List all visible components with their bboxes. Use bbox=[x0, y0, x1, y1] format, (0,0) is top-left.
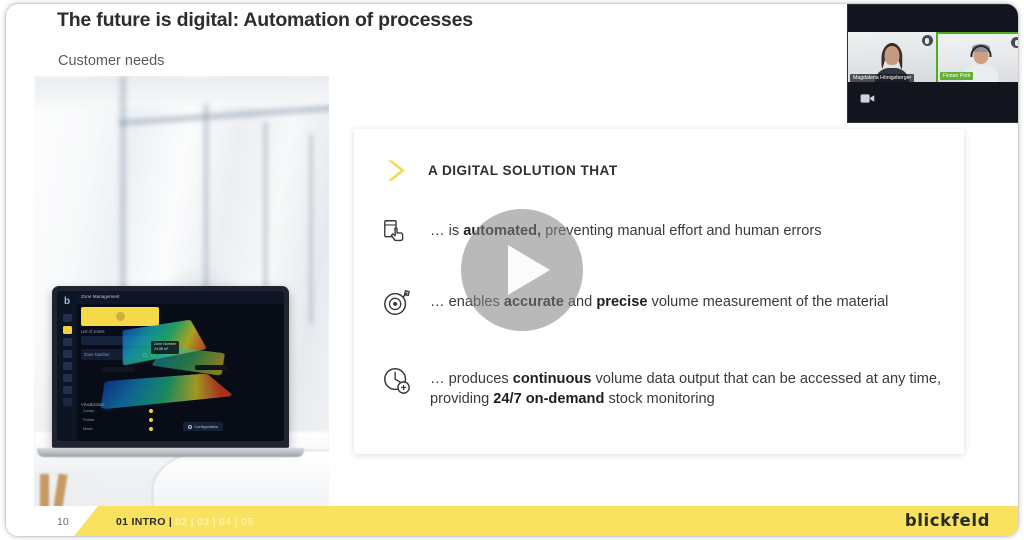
pointcloud-bar bbox=[101, 367, 135, 372]
chair-leg bbox=[40, 474, 49, 508]
video-panel-toolbar bbox=[848, 82, 1018, 122]
play-button-icon[interactable] bbox=[461, 209, 583, 331]
configuration-button-label: Configuration bbox=[194, 424, 218, 429]
tooltip-value: 24.98 m³ bbox=[154, 347, 176, 352]
content-card: A DIGITAL SOLUTION THAT … is automated, … bbox=[354, 129, 964, 454]
sidebar-icon-devices[interactable] bbox=[63, 338, 72, 346]
visualization-row-label: Points bbox=[83, 417, 94, 422]
visualization-row-zones[interactable]: Zones bbox=[83, 408, 161, 415]
pointcloud-bar bbox=[195, 365, 227, 370]
toggle-dot-icon[interactable] bbox=[149, 427, 153, 431]
brand-logo: blickfeld bbox=[905, 511, 990, 530]
bullet-text-post: volume measurement of the material bbox=[647, 294, 888, 310]
participant-name-label: Florian Petit bbox=[940, 72, 974, 80]
bullet-text-pre: … produces bbox=[430, 371, 513, 387]
pointcloud-floor bbox=[100, 373, 234, 409]
visualization-row-points[interactable]: Points bbox=[83, 417, 161, 424]
toggle-dot-icon[interactable] bbox=[149, 418, 153, 422]
bullet-text-pre: … is bbox=[430, 223, 463, 239]
mic-muted-icon bbox=[1011, 37, 1018, 48]
app-sidebar: b bbox=[57, 291, 77, 441]
laptop-mockup: b Zone Management List of bbox=[52, 286, 289, 448]
sidebar-icon-data[interactable] bbox=[63, 350, 72, 358]
card-heading: A DIGITAL SOLUTION THAT bbox=[428, 163, 618, 178]
gear-icon bbox=[188, 425, 192, 429]
sidebar-icon-alerts[interactable] bbox=[63, 362, 72, 370]
footer-nav-active[interactable]: 01 INTRO | bbox=[116, 516, 172, 528]
sidebar-icon-settings[interactable] bbox=[63, 386, 72, 394]
visualization-row-label: Mesh bbox=[83, 426, 93, 431]
participant-head bbox=[884, 46, 899, 65]
slide-subtitle: Customer needs bbox=[58, 53, 164, 69]
app-topbar-title: Zone Management bbox=[81, 294, 120, 299]
video-conference-panel[interactable]: Magdalena Hönigsberger Florian Petit bbox=[847, 4, 1018, 123]
pillar bbox=[308, 134, 314, 324]
bullet-item: … produces continuous volume data output… bbox=[382, 369, 942, 409]
toggle-dot-icon[interactable] bbox=[149, 409, 153, 413]
mic-glyph bbox=[925, 38, 929, 44]
mic-muted-icon bbox=[922, 35, 933, 46]
presentation-slide: The future is digital: Automation of pro… bbox=[6, 4, 1018, 536]
bullet-text-bold: continuous bbox=[513, 371, 592, 387]
bullet-text: … produces continuous volume data output… bbox=[430, 369, 942, 409]
sidebar-icon-dashboard[interactable] bbox=[63, 314, 72, 322]
hand-click-icon bbox=[382, 217, 412, 247]
footer-section-nav: 01 INTRO |02 | 03 | 04 | 05 bbox=[116, 516, 253, 528]
target-precision-icon bbox=[382, 288, 412, 318]
sidebar-icon-help[interactable] bbox=[63, 398, 72, 406]
play-triangle bbox=[508, 245, 550, 295]
card-heading-row: A DIGITAL SOLUTION THAT bbox=[382, 157, 618, 184]
slide-footer: 10 01 INTRO |02 | 03 | 04 | 05 blickfeld bbox=[6, 506, 1018, 536]
participant-tile-active-speaker[interactable]: Florian Petit bbox=[936, 32, 1019, 84]
visualization-row-mesh[interactable]: Mesh bbox=[83, 426, 161, 433]
bullet-text-bold: 24/7 on-demand bbox=[493, 391, 604, 407]
chevron-right-icon bbox=[382, 157, 409, 184]
slide-number: 10 bbox=[57, 516, 69, 528]
slide-title: The future is digital: Automation of pro… bbox=[57, 9, 473, 32]
app-logo: b bbox=[62, 296, 73, 307]
office-chair bbox=[152, 450, 329, 508]
bullet-text-bold: precise bbox=[596, 294, 647, 310]
clock-data-icon bbox=[382, 365, 412, 395]
sidebar-icon-zones[interactable] bbox=[63, 326, 72, 334]
mic-glyph bbox=[1015, 40, 1019, 46]
sidebar-icon-reports[interactable] bbox=[63, 374, 72, 382]
participant-tile[interactable]: Magdalena Hönigsberger bbox=[848, 32, 936, 84]
bullet-text-mid: preventing manual effort and human error… bbox=[541, 223, 821, 239]
visualization-row-label: Zones bbox=[83, 408, 94, 413]
pointcloud-tooltip: Zone Number 24.98 m³ bbox=[151, 341, 179, 354]
ceiling-band bbox=[34, 76, 329, 106]
video-camera-icon[interactable] bbox=[860, 93, 875, 104]
configuration-button[interactable]: Configuration bbox=[183, 422, 223, 431]
laptop-base bbox=[37, 448, 304, 457]
app-main-area: Zone Management List of zones Zone Numbe… bbox=[77, 291, 284, 441]
participant-name-label: Magdalena Hönigsberger bbox=[850, 74, 914, 82]
laptop-screen: b Zone Management List of bbox=[57, 291, 284, 441]
footer-nav-rest[interactable]: 02 | 03 | 04 | 05 bbox=[175, 516, 253, 528]
participant-grid: Magdalena Hönigsberger Florian Petit bbox=[848, 32, 1018, 84]
bullet-text-post: stock monitoring bbox=[604, 391, 714, 407]
laptop-lid: b Zone Management List of bbox=[52, 286, 289, 448]
visualization-label: Visualization bbox=[81, 402, 104, 407]
